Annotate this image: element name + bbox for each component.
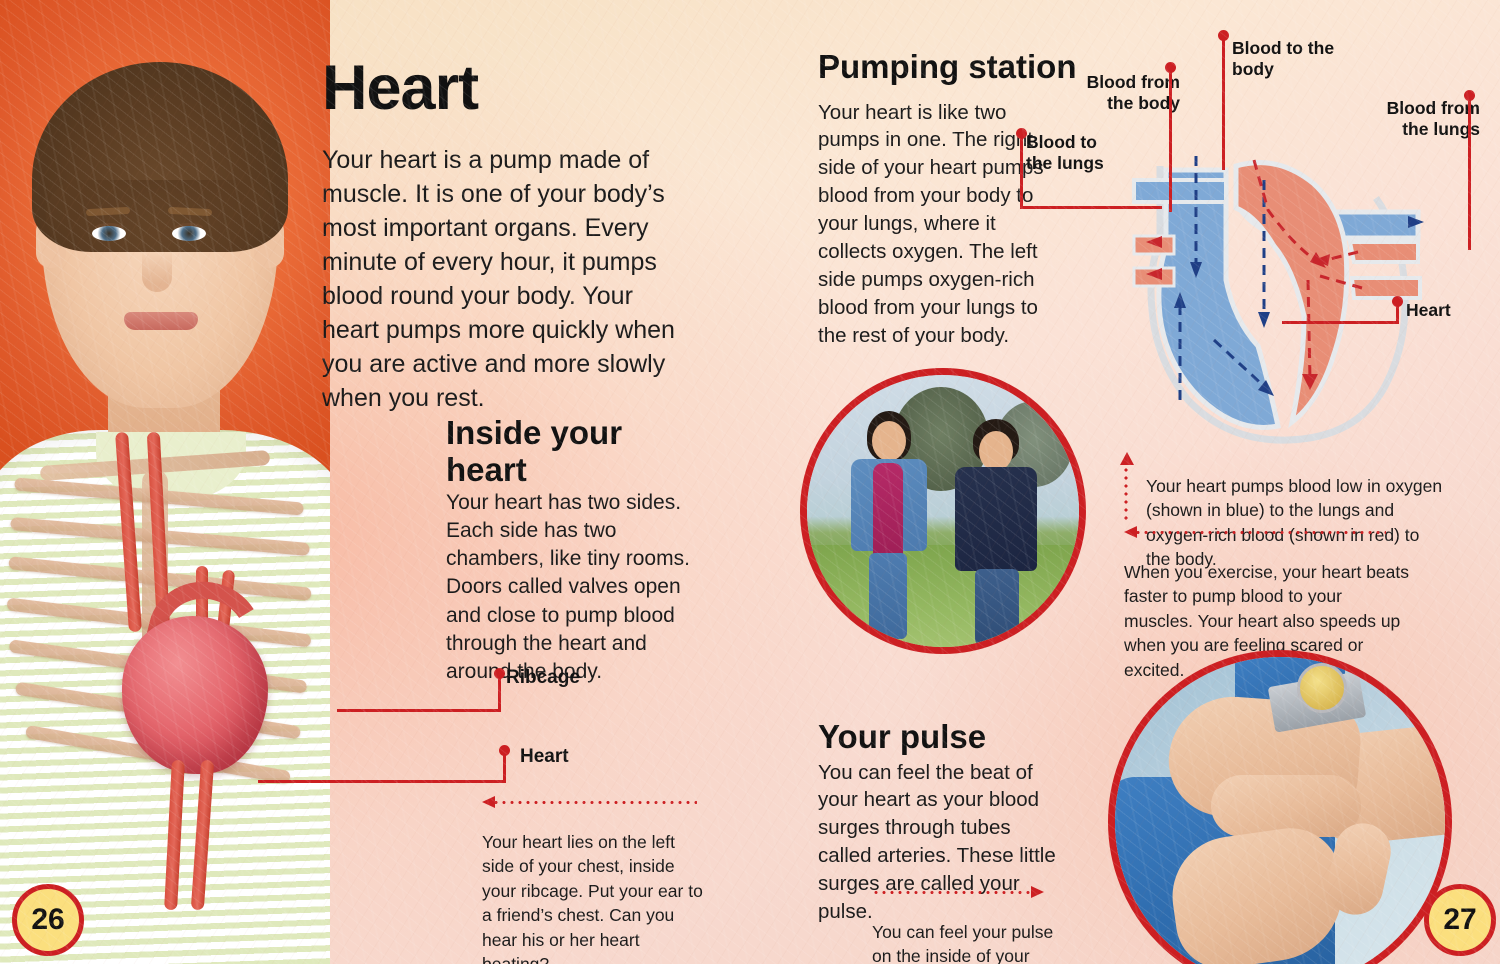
blood-from-body-leader: [1165, 62, 1175, 212]
leader-vertical: [1468, 96, 1471, 250]
inside-your-heart-heading: Inside your heart: [446, 415, 676, 489]
head: [979, 431, 1013, 471]
pulse-caption: You can feel your pulse on the inside of…: [872, 920, 1062, 964]
leader-horizontal: [337, 709, 501, 712]
label-heart: Heart: [520, 746, 569, 768]
boy-portrait-photo: [0, 0, 330, 964]
arrow-right-icon: [1031, 886, 1044, 898]
leader-vertical: [1169, 68, 1172, 212]
page-number-right: 27: [1424, 884, 1496, 956]
head: [872, 421, 906, 461]
pulse-check-photo: [1108, 650, 1452, 964]
page-number-right-text: 27: [1443, 903, 1476, 937]
jeans: [869, 553, 907, 639]
caption-rule-left: [482, 800, 697, 804]
jeans: [975, 569, 1019, 645]
heart-leader-line: [258, 745, 506, 783]
pulse-caption-rule: [872, 890, 1044, 894]
your-pulse-text: You can feel the beat of your heart as y…: [818, 759, 1058, 926]
girl-figure: [841, 411, 937, 641]
diagram-caption: Your heart pumps blood low in oxygen (sh…: [1146, 474, 1446, 572]
mouth: [124, 312, 198, 330]
leader-vertical: [1222, 36, 1225, 170]
dotted-line: [1134, 531, 1386, 534]
navy-shirt: [955, 467, 1037, 571]
leader-vertical: [498, 674, 501, 712]
artery-vessel: [164, 760, 185, 910]
nose: [142, 250, 172, 292]
pulmonary-vein-red-upper: [1350, 242, 1418, 262]
label-blood-to-the-body: Blood to the body: [1232, 38, 1342, 80]
ribcage-caption: Your heart lies on the left side of your…: [482, 830, 704, 964]
exercise-caption-rule: [1124, 530, 1386, 534]
label-blood-from-the-body: Blood from the body: [1070, 72, 1180, 114]
pumping-station-heading: Pumping station: [818, 49, 1077, 86]
heart-organ: [122, 616, 268, 774]
label-heart-diagram: Heart: [1406, 300, 1451, 321]
pulmonary-vein-red-lower: [1352, 278, 1420, 298]
kids-running-photo: [800, 368, 1086, 654]
page-number-left: 26: [12, 884, 84, 956]
your-pulse-heading: Your pulse: [818, 719, 986, 756]
watch-face: [1297, 663, 1347, 713]
leader-horizontal: [1282, 321, 1398, 324]
pink-top: [873, 463, 903, 559]
blood-from-lungs-leader: [1464, 90, 1474, 250]
leader-vertical: [1020, 134, 1023, 208]
blood-to-body-leader: [1218, 30, 1228, 170]
boy-figure: [947, 419, 1047, 645]
page-title: Heart: [322, 52, 478, 124]
leader-vertical: [503, 751, 506, 783]
diagram-caption-marker: [1124, 458, 1130, 520]
leader-horizontal: [258, 780, 506, 783]
heart-diagram-leader: [1282, 296, 1400, 324]
dotted-line: [872, 891, 1034, 894]
blood-to-lungs-leader: [1016, 128, 1162, 210]
page-number-left-text: 26: [31, 903, 64, 937]
eye-right: [172, 226, 206, 241]
ribcage-leader-line: [337, 668, 505, 712]
eye-left: [92, 226, 126, 241]
label-ribcage: Ribcage: [506, 667, 580, 689]
artery-vessel: [191, 760, 214, 911]
book-spread: Heart Your heart is a pump made of muscl…: [0, 0, 1500, 964]
arrow-up-icon: [1120, 452, 1134, 465]
inside-your-heart-text: Your heart has two sides. Each side has …: [446, 489, 692, 686]
anatomy-overlay: [0, 430, 330, 910]
dotted-line: [492, 801, 697, 804]
intro-paragraph: Your heart is a pump made of muscle. It …: [322, 143, 694, 415]
leader-horizontal: [1020, 206, 1162, 209]
